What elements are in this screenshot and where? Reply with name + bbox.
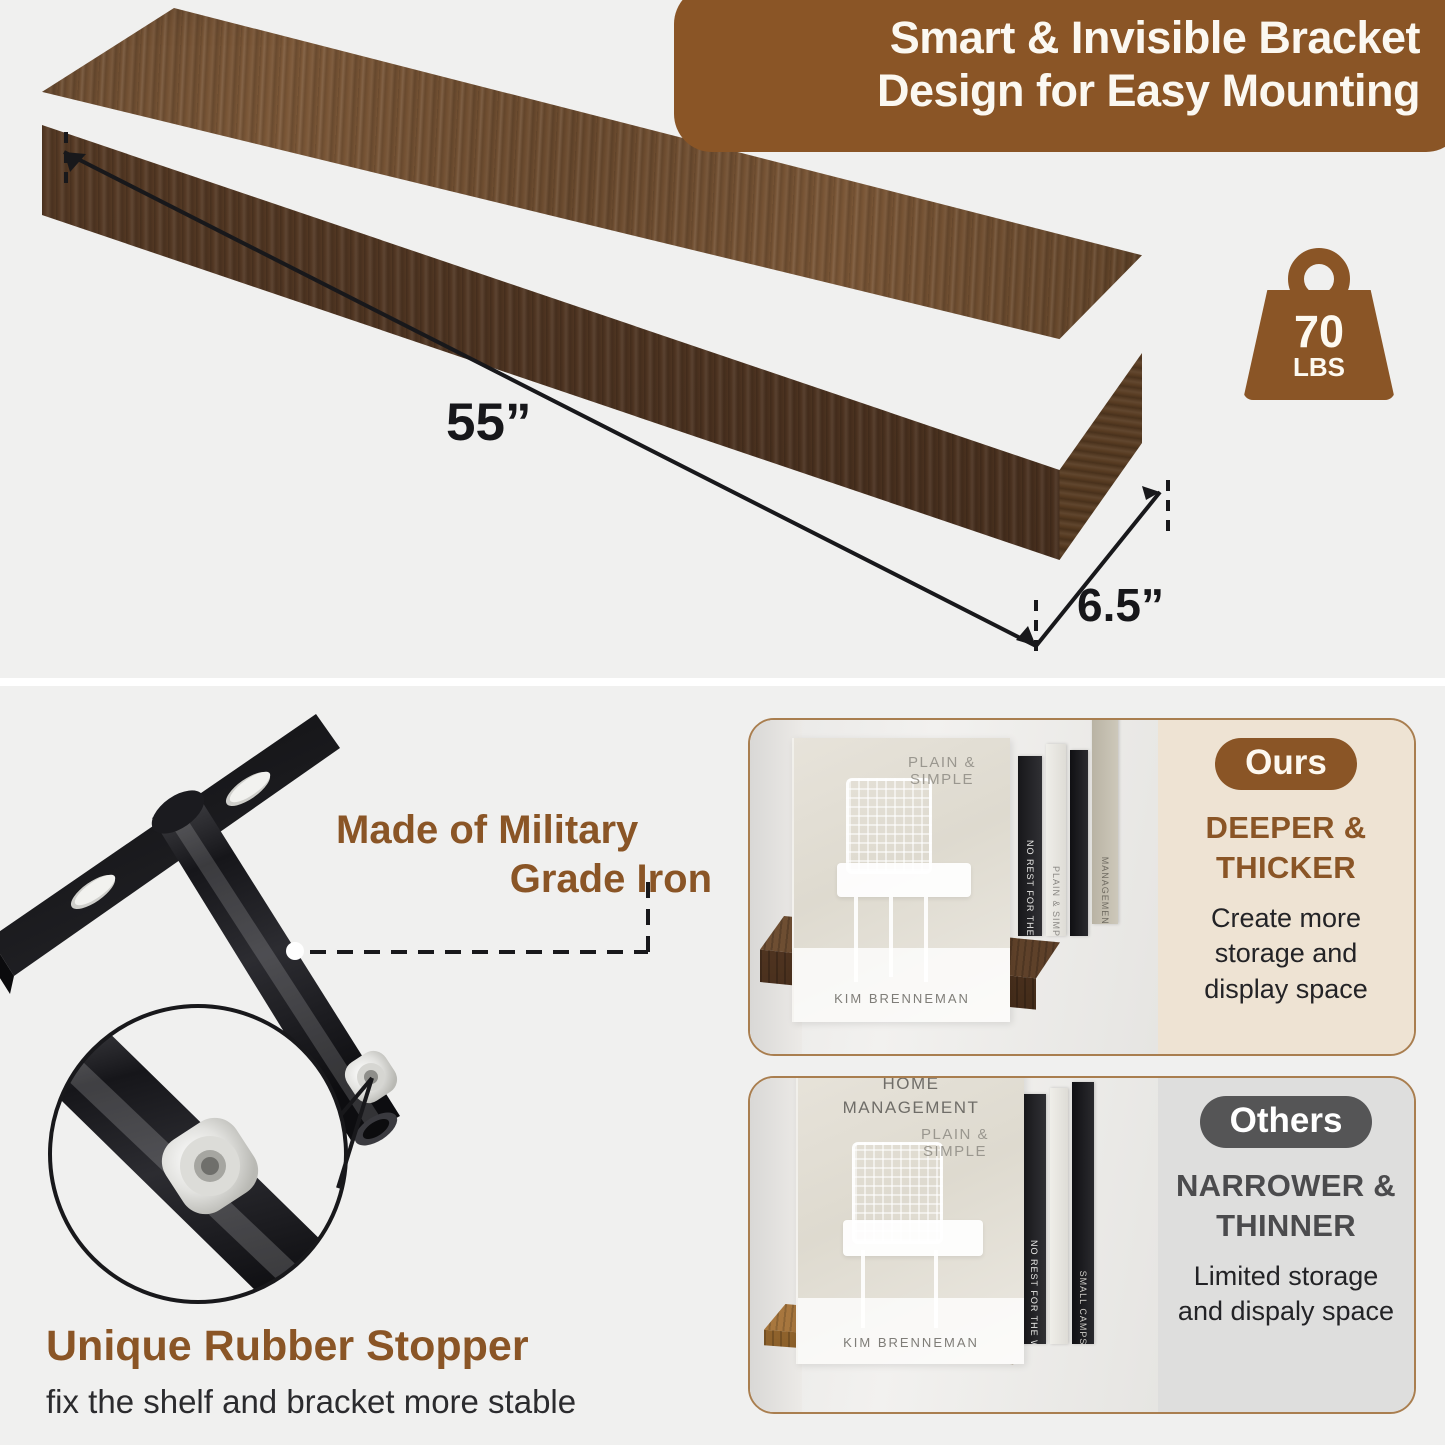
- ours-headline-line-2: THICKER: [1216, 850, 1356, 885]
- book-spine: NO REST FOR THE WEARY: [1022, 1094, 1046, 1344]
- ours-headline-line-1: DEEPER &: [1206, 810, 1367, 845]
- book-spine: SMALL CAMPS: [1072, 1082, 1094, 1344]
- book-title-line-2: SIMPLE: [910, 771, 974, 788]
- ours-headline: DEEPER & THICKER: [1206, 808, 1367, 887]
- others-photo: NO REST FOR THE WEARY SMALL CAMPS HOME M…: [750, 1078, 1158, 1412]
- ours-badge: Ours: [1215, 738, 1357, 790]
- header-title-line-1: Smart & Invisible Bracket: [890, 12, 1420, 65]
- shelf-width-label: 55”: [446, 392, 531, 453]
- weight-value: 70: [1294, 311, 1344, 354]
- features-comparison-panel: Made of Military Grade Iron Unique Rubbe…: [0, 686, 1445, 1445]
- spine-text: SMALL CAMPS: [1078, 1270, 1088, 1344]
- book-spine: MANAGEMENT: [1092, 720, 1118, 924]
- ours-description: Create more storage and display space: [1158, 901, 1414, 1006]
- ours-photo: NO REST FOR THE WEARY PLAIN & SIMPLE MAN…: [750, 720, 1158, 1054]
- comparison-card-others: NO REST FOR THE WEARY SMALL CAMPS HOME M…: [748, 1076, 1416, 1414]
- book-author: KIM BRENNEMAN: [794, 991, 1010, 1006]
- header-banner: Smart & Invisible Bracket Design for Eas…: [674, 0, 1445, 152]
- spine-text: PLAIN & SIMPLE: [1051, 866, 1061, 936]
- others-headline-line-2: THINNER: [1216, 1208, 1356, 1243]
- stopper-title: Unique Rubber Stopper: [46, 1322, 529, 1371]
- chair-back: [846, 778, 932, 875]
- others-headline: NARROWER & THINNER: [1176, 1166, 1396, 1245]
- spine-text: NO REST FOR THE WEARY: [1025, 840, 1035, 936]
- others-text-block: Others NARROWER & THINNER Limited storag…: [1158, 1078, 1414, 1412]
- front-book-cover: HOME MANAGEMENT PLAIN & SIMPLE KIM BRENN…: [796, 1078, 1024, 1364]
- bracket-heading-line-1: Made of Military: [336, 806, 712, 855]
- book-subtitle-line-1: PLAIN &: [921, 1126, 989, 1143]
- weight-capacity-icon: 70 LBS: [1243, 248, 1395, 400]
- bracket-heading-line-2: Grade Iron: [336, 855, 712, 904]
- book-title-home: HOME: [798, 1078, 1024, 1094]
- others-description: Limited storage and dispaly space: [1158, 1259, 1414, 1329]
- book-subtitle: PLAIN & SIMPLE: [896, 1126, 1014, 1161]
- stopper-subtitle: fix the shelf and bracket more stable: [46, 1383, 576, 1421]
- bracket-svg: [0, 686, 740, 1346]
- shelf-depth-label: 6.5”: [1077, 578, 1164, 632]
- header-title-line-2: Design for Easy Mounting: [877, 65, 1420, 118]
- spine-text: NO REST FOR THE WEARY: [1029, 1240, 1039, 1344]
- weight-body: 70 LBS: [1243, 290, 1395, 400]
- ours-text-block: Ours DEEPER & THICKER Create more storag…: [1158, 720, 1414, 1054]
- book-spine: PLAIN & SIMPLE: [1046, 744, 1066, 936]
- weight-unit: LBS: [1293, 353, 1345, 383]
- chair-seat: [837, 863, 971, 897]
- book-subtitle-line-2: SIMPLE: [923, 1143, 987, 1160]
- bracket-heading: Made of Military Grade Iron: [336, 806, 712, 904]
- book-title-line-1: PLAIN &: [908, 754, 976, 771]
- comparison-card-ours: NO REST FOR THE WEARY PLAIN & SIMPLE MAN…: [748, 718, 1416, 1056]
- book-spine: [1070, 750, 1088, 936]
- book-author: KIM BRENNEMAN: [798, 1335, 1024, 1350]
- book-spine: [1050, 1088, 1068, 1344]
- others-badge: Others: [1200, 1096, 1373, 1148]
- front-book-cover: PLAIN & SIMPLE KIM BRENNEMAN: [792, 738, 1010, 1022]
- cover-bottom-band: [794, 948, 1010, 1022]
- book-title-management: MANAGEMENT: [798, 1098, 1024, 1118]
- product-dimensions-panel: 55” 6.5” 70 LBS Smart & Invisible Bracke…: [0, 0, 1445, 678]
- bracket-illustration: [0, 686, 740, 1326]
- spine-text: MANAGEMENT: [1100, 857, 1110, 924]
- cover-bottom-band: [798, 1298, 1024, 1364]
- book-title: PLAIN & SIMPLE: [882, 754, 1002, 789]
- book-spine: NO REST FOR THE WEARY: [1018, 756, 1042, 936]
- others-headline-line-1: NARROWER &: [1176, 1168, 1396, 1203]
